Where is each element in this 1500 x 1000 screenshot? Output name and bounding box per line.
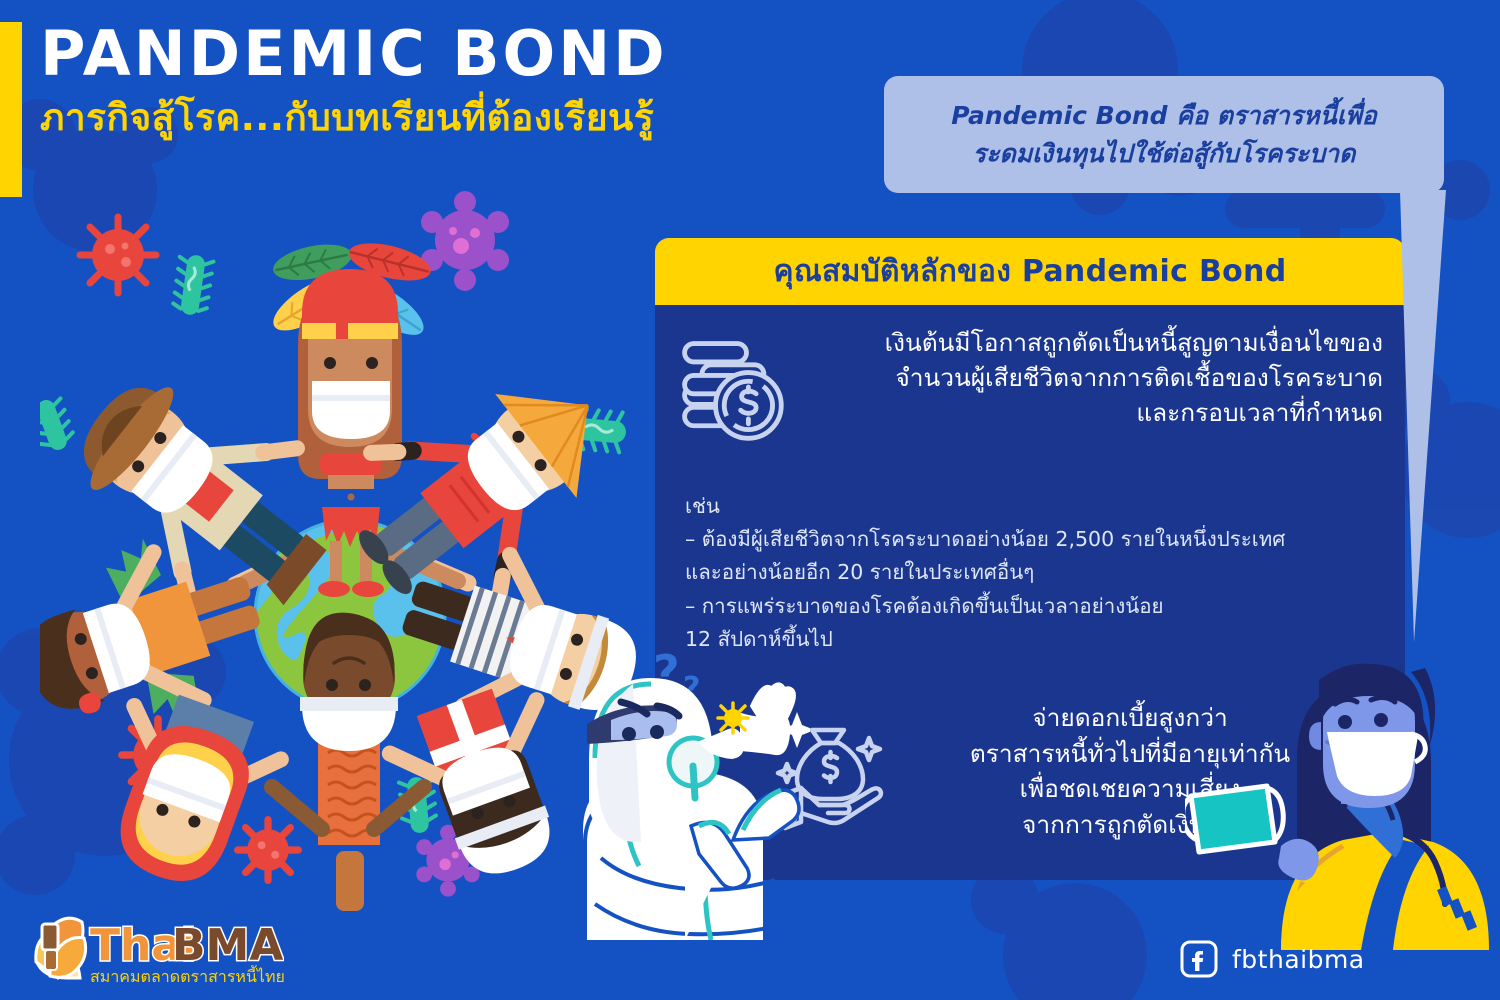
feature-principal: เงินต้นมีโอกาสถูกตัดเป็นหนี้สูญตามเงื่อน… — [673, 325, 1387, 447]
facebook-handle: fbthaibma — [1232, 945, 1365, 974]
callout-tail — [1400, 190, 1446, 642]
features-panel-header: คุณสมบัติหลักของ Pandemic Bond — [655, 238, 1405, 305]
scientist-in-ppe-with-magnifier: ? ? — [565, 640, 810, 940]
conditions-line-1: เช่น — [685, 490, 1385, 523]
conditions-line-4: – การแพร่ระบาดของโรคต้องเกิดขึ้นเป็นเวลา… — [685, 590, 1385, 623]
thaibma-logo: Thai BMA สมาคมตลาดตราสารหนี้ไทย — [24, 908, 284, 990]
callout-line-2: ระดมเงินทุนไปใช้ต่อสู้กับโรคระบาด — [973, 135, 1356, 173]
definition-callout: Pandemic Bond คือ ตราสารหนี้เพื่อ ระดมเง… — [884, 76, 1444, 193]
conditions-list: เช่น – ต้องมีผู้เสียชีวิตจากโรคระบาดอย่า… — [685, 490, 1385, 656]
page-title: PANDEMIC BOND — [40, 18, 668, 89]
coins-icon — [673, 325, 789, 447]
lotus-icon — [36, 918, 86, 978]
conditions-line-2: – ต้องมีผู้เสียชีวิตจากโรคระบาดอย่างน้อย… — [685, 523, 1385, 556]
woman-with-face-mask — [1185, 650, 1500, 950]
page-header: PANDEMIC BOND ภารกิจสู้โรค...กับบทเรียนท… — [40, 18, 668, 142]
conditions-line-3: และอย่างน้อยอีก 20 รายในประเทศอื่นๆ — [685, 556, 1385, 589]
logo-bma-word: BMA — [172, 920, 283, 971]
person-bottom-left — [82, 682, 289, 903]
feature-principal-line-1: เงินต้นมีโอกาสถูกตัดเป็นหนี้สูญตามเงื่อน… — [789, 325, 1383, 360]
facebook-footer[interactable]: fbthaibma — [1180, 940, 1365, 978]
features-panel-title: คุณสมบัติหลักของ Pandemic Bond — [774, 248, 1287, 295]
feature-principal-line-2: จำนวนผู้เสียชีวิตจากการติดเชื้อของโรคระบ… — [789, 360, 1383, 395]
feature-principal-text: เงินต้นมีโอกาสถูกตัดเป็นหนี้สูญตามเงื่อน… — [789, 325, 1387, 447]
feature-principal-line-3: และกรอบเวลาที่กำหนด — [789, 395, 1383, 430]
logo-subtitle: สมาคมตลาดตราสารหนี้ไทย — [90, 965, 284, 986]
left-accent-bar — [0, 22, 22, 197]
facebook-icon[interactable] — [1180, 940, 1218, 978]
callout-line-1: Pandemic Bond คือ ตราสารหนี้เพื่อ — [951, 97, 1377, 135]
page-subtitle: ภารกิจสู้โรค...กับบทเรียนที่ต้องเรียนรู้ — [40, 95, 668, 141]
